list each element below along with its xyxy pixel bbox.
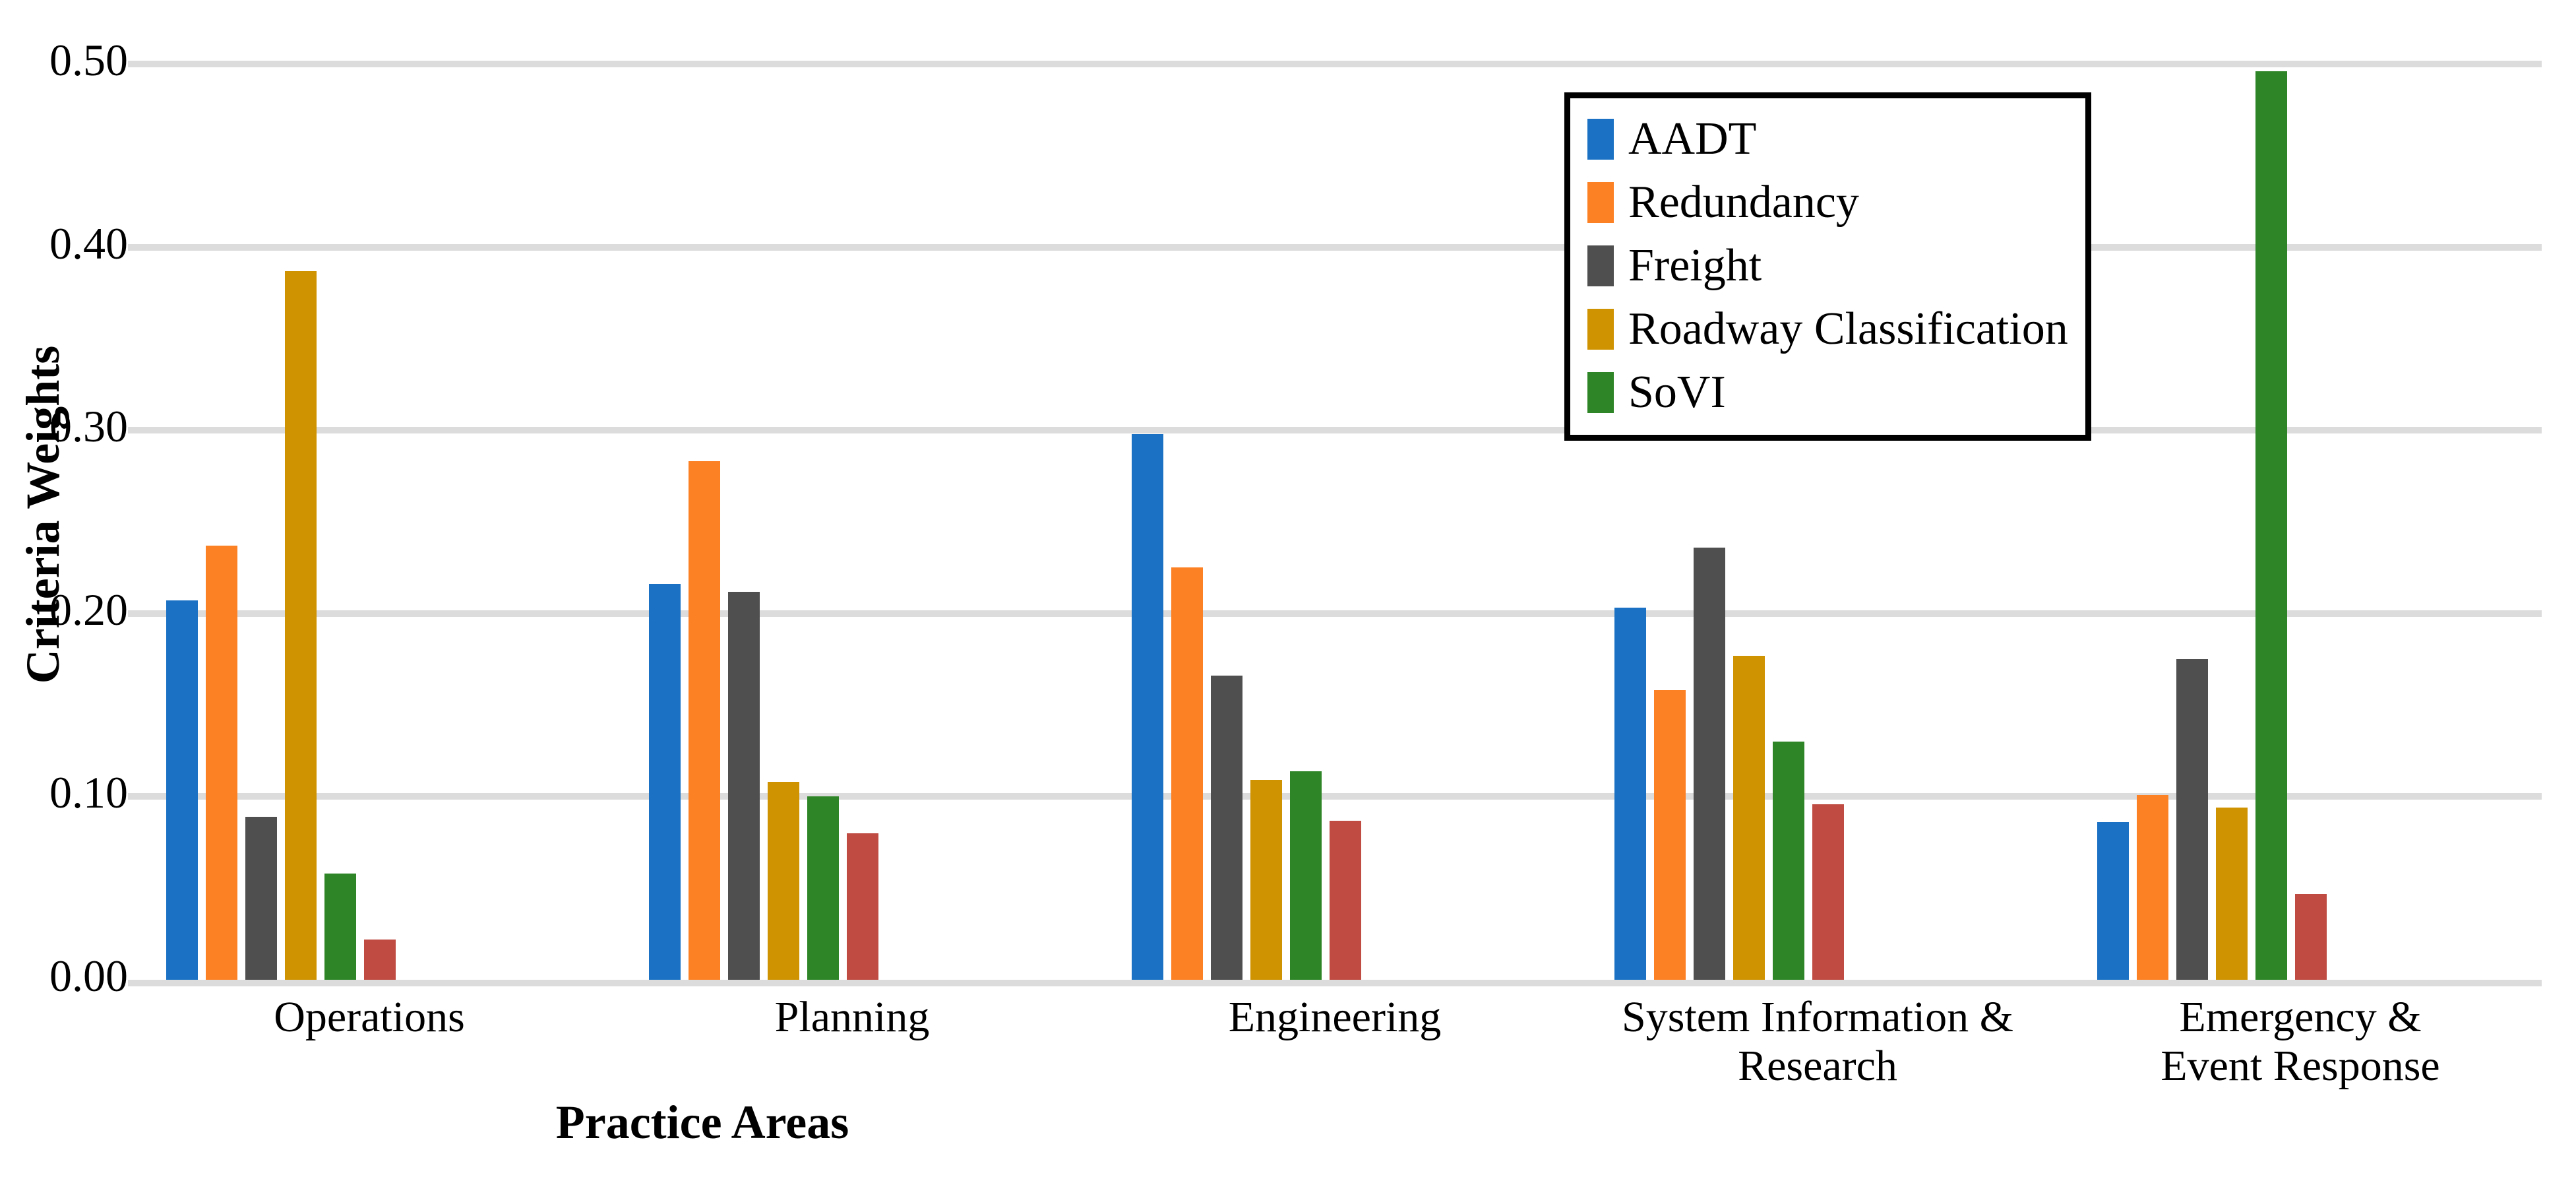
bar[interactable]	[847, 833, 878, 980]
bar[interactable]	[1654, 690, 1686, 980]
y-tick-label: 0.10	[0, 770, 128, 815]
bar[interactable]	[2216, 808, 2248, 980]
bar[interactable]	[1132, 434, 1163, 980]
bar-group	[128, 64, 611, 980]
bar[interactable]	[364, 940, 396, 980]
bar[interactable]	[649, 584, 681, 980]
legend-label: Freight	[1628, 243, 1762, 289]
legend-item[interactable]: AADT	[1587, 108, 2068, 171]
bar[interactable]	[2295, 894, 2327, 980]
bar[interactable]	[245, 817, 277, 980]
bar-group	[611, 64, 1093, 980]
y-axis-title: Criteria Weights	[13, 251, 73, 779]
legend-item[interactable]: Freight	[1587, 234, 2068, 298]
x-axis-tick-labels: OperationsPlanningEngineeringSystem Info…	[128, 993, 2542, 1112]
bar[interactable]	[807, 796, 839, 980]
y-tick-label: 0.50	[0, 38, 128, 82]
bar[interactable]	[1614, 608, 1646, 980]
bar[interactable]	[728, 592, 760, 980]
bar[interactable]	[285, 271, 317, 980]
bar-set	[128, 64, 611, 980]
bar-groups	[128, 64, 2542, 980]
legend-item[interactable]: SoVI	[1587, 361, 2068, 424]
bar[interactable]	[1211, 676, 1242, 980]
y-tick-label: 0.20	[0, 587, 128, 632]
bar[interactable]	[1330, 821, 1361, 980]
legend-swatch-icon	[1587, 372, 1614, 413]
bar[interactable]	[1171, 567, 1203, 980]
bar[interactable]	[206, 546, 237, 980]
legend-label: Roadway Classification	[1628, 306, 2068, 352]
bar[interactable]	[2176, 659, 2208, 980]
bar[interactable]	[2097, 822, 2129, 980]
bar-chart: Criteria Weights 0.500.400.300.200.100.0…	[0, 0, 2576, 1181]
x-tick-label: Emergency &Event Response	[2059, 993, 2542, 1112]
bar[interactable]	[1812, 804, 1844, 980]
legend-label: AADT	[1628, 116, 1756, 162]
legend-item[interactable]: Roadway Classification	[1587, 298, 2068, 361]
bar[interactable]	[768, 782, 799, 980]
legend-item[interactable]: Redundancy	[1587, 171, 2068, 234]
bar-set	[1093, 64, 1576, 980]
bar[interactable]	[1694, 548, 1725, 980]
bar[interactable]	[1773, 742, 1804, 980]
x-tick-label: Engineering	[1093, 993, 1576, 1112]
bar[interactable]	[1290, 771, 1322, 980]
bar[interactable]	[2137, 795, 2168, 980]
y-tick-label: 0.00	[0, 953, 128, 998]
x-tick-label: System Information &Research	[1576, 993, 2059, 1112]
legend-label: Redundancy	[1628, 179, 1859, 226]
x-tick-label: Planning	[611, 993, 1093, 1112]
legend-swatch-icon	[1587, 309, 1614, 350]
y-tick-label: 0.40	[0, 221, 128, 266]
legend-swatch-icon	[1587, 182, 1614, 223]
bar[interactable]	[1250, 780, 1282, 980]
bar-group	[2059, 64, 2542, 980]
x-tick-label: Operations	[128, 993, 611, 1112]
legend-label: SoVI	[1628, 369, 1726, 416]
axis-baseline	[128, 980, 2542, 986]
legend-swatch-icon	[1587, 119, 1614, 160]
bar[interactable]	[2255, 71, 2287, 980]
x-axis-title: Practice Areas	[0, 1095, 1405, 1150]
legend: AADTRedundancyFreightRoadway Classificat…	[1564, 92, 2091, 441]
y-tick-label: 0.30	[0, 404, 128, 449]
bar[interactable]	[1733, 656, 1765, 980]
bar[interactable]	[689, 461, 720, 980]
bar[interactable]	[166, 600, 198, 980]
bar-set	[611, 64, 1093, 980]
bar-set	[2059, 64, 2542, 980]
bar-group	[1093, 64, 1576, 980]
legend-swatch-icon	[1587, 245, 1614, 286]
plot-area	[128, 64, 2542, 980]
bar[interactable]	[324, 874, 356, 980]
